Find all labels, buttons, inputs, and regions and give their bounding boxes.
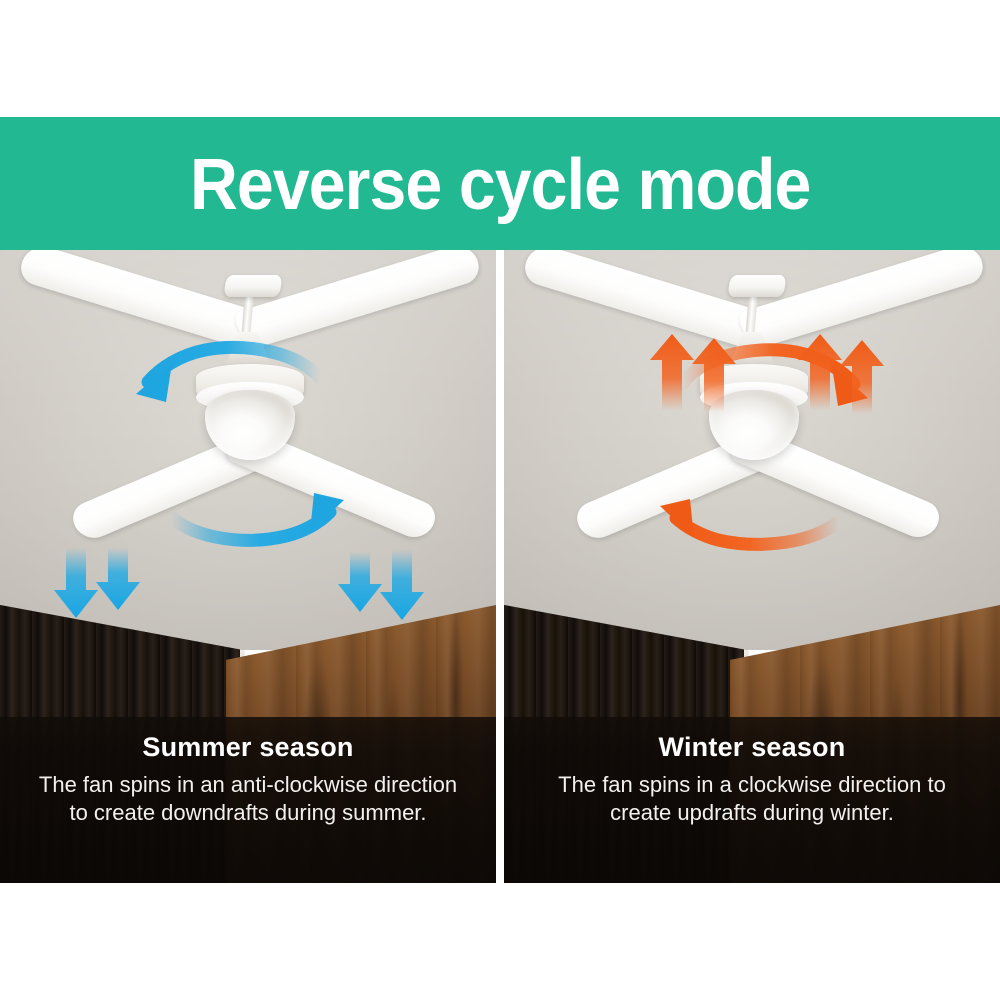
caption-body: The fan spins in an anti-clockwise direc…	[0, 771, 496, 827]
caption-title: Summer season	[0, 733, 496, 763]
panel-winter: Winter season The fan spins in a clockwi…	[504, 250, 1000, 883]
caption-winter: Winter season The fan spins in a clockwi…	[504, 717, 1000, 883]
page-title: Reverse cycle mode	[190, 149, 810, 221]
infographic-page: Reverse cycle mode	[0, 0, 1000, 1000]
header-banner: Reverse cycle mode	[0, 117, 1000, 250]
fan-ceiling-mount	[223, 275, 282, 297]
comparison-panels: Summer season The fan spins in an anti-c…	[0, 250, 1000, 883]
panel-divider	[496, 250, 504, 883]
caption-body: The fan spins in a clockwise direction t…	[504, 771, 1000, 827]
caption-title: Winter season	[504, 733, 1000, 763]
fan-blade	[519, 250, 769, 351]
caption-summer: Summer season The fan spins in an anti-c…	[0, 717, 496, 883]
fan-ceiling-mount	[727, 275, 786, 297]
fan-blade	[736, 250, 989, 351]
fan-blade	[232, 250, 485, 351]
panel-summer: Summer season The fan spins in an anti-c…	[0, 250, 496, 883]
ceiling-fan-summer	[0, 250, 496, 670]
fan-blade	[15, 250, 265, 351]
ceiling-fan-winter	[504, 250, 1000, 670]
